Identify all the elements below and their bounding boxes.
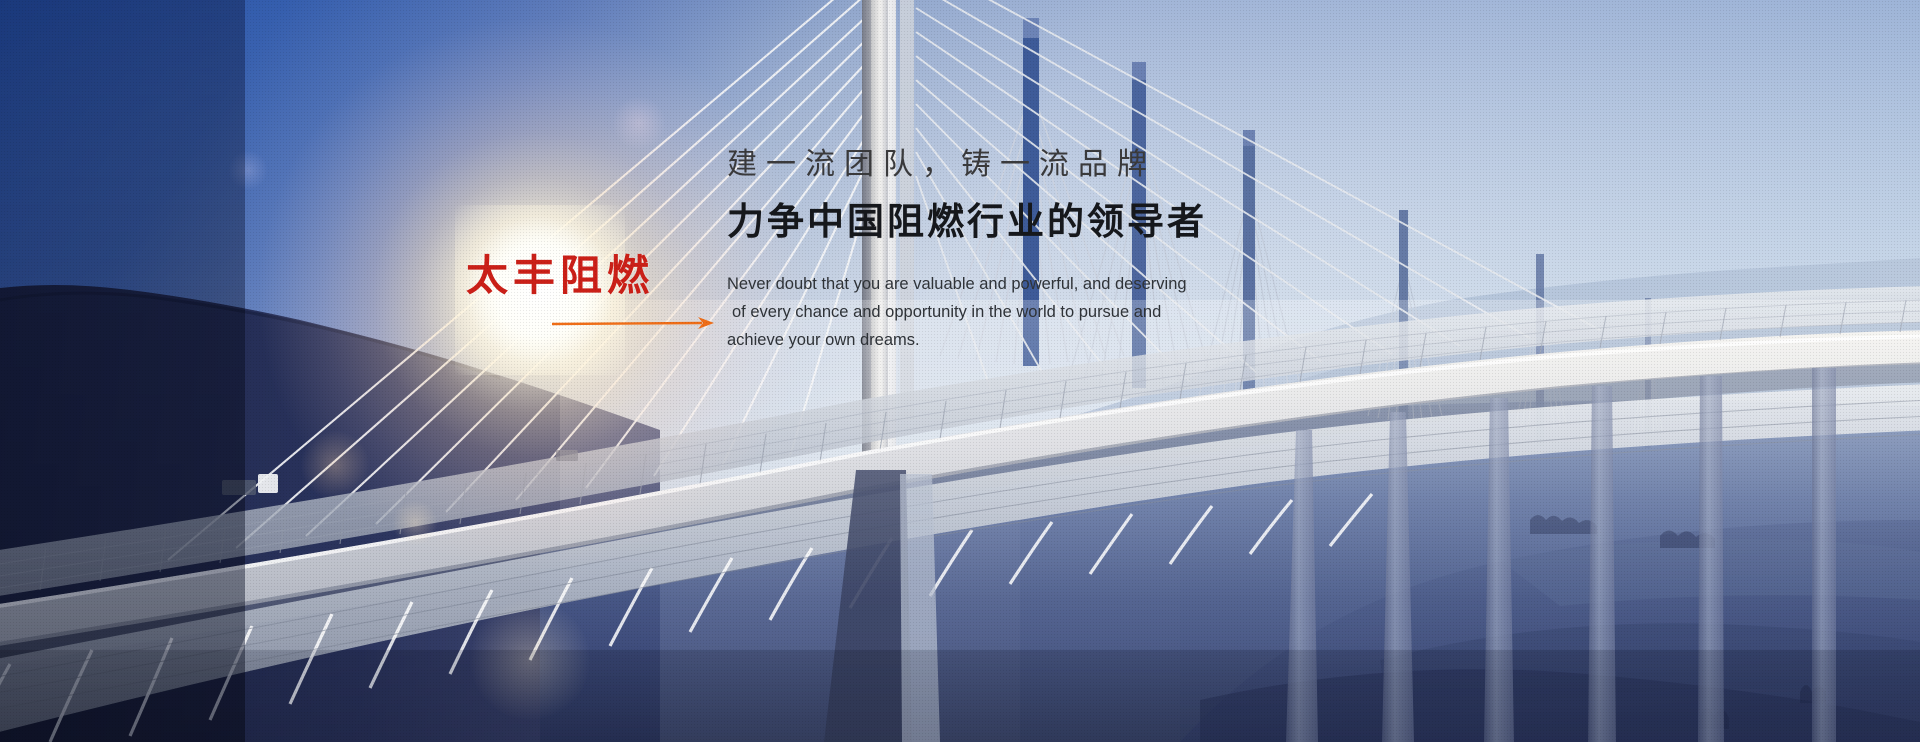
hero-subtext-line-1: Never doubt that you are valuable and po… <box>727 270 1197 298</box>
headline-secondary: 力争中国阻燃行业的领导者 <box>727 200 1427 244</box>
hero-subtext: Never doubt that you are valuable and po… <box>727 270 1197 354</box>
hero-subtext-line-3: achieve your own dreams. <box>727 326 1197 354</box>
brand-logo[interactable]: 太丰阻燃 <box>466 255 706 331</box>
headline-primary: 建一流团队，铸一流品牌 <box>727 146 1427 184</box>
hero-copy: 建一流团队，铸一流品牌 力争中国阻燃行业的领导者 Never doubt tha… <box>727 146 1427 354</box>
brand-logo-text: 太丰阻燃 <box>466 255 706 297</box>
background-scene <box>0 0 1920 742</box>
hero-subtext-line-2: of every chance and opportunity in the w… <box>727 298 1197 326</box>
bridge-illustration <box>0 0 1920 742</box>
hero-banner: 太丰阻燃 建一流团队，铸一流品牌 力争中国阻燃行业的领导者 Never doub… <box>0 0 1920 742</box>
arrow-right-icon <box>552 315 722 331</box>
